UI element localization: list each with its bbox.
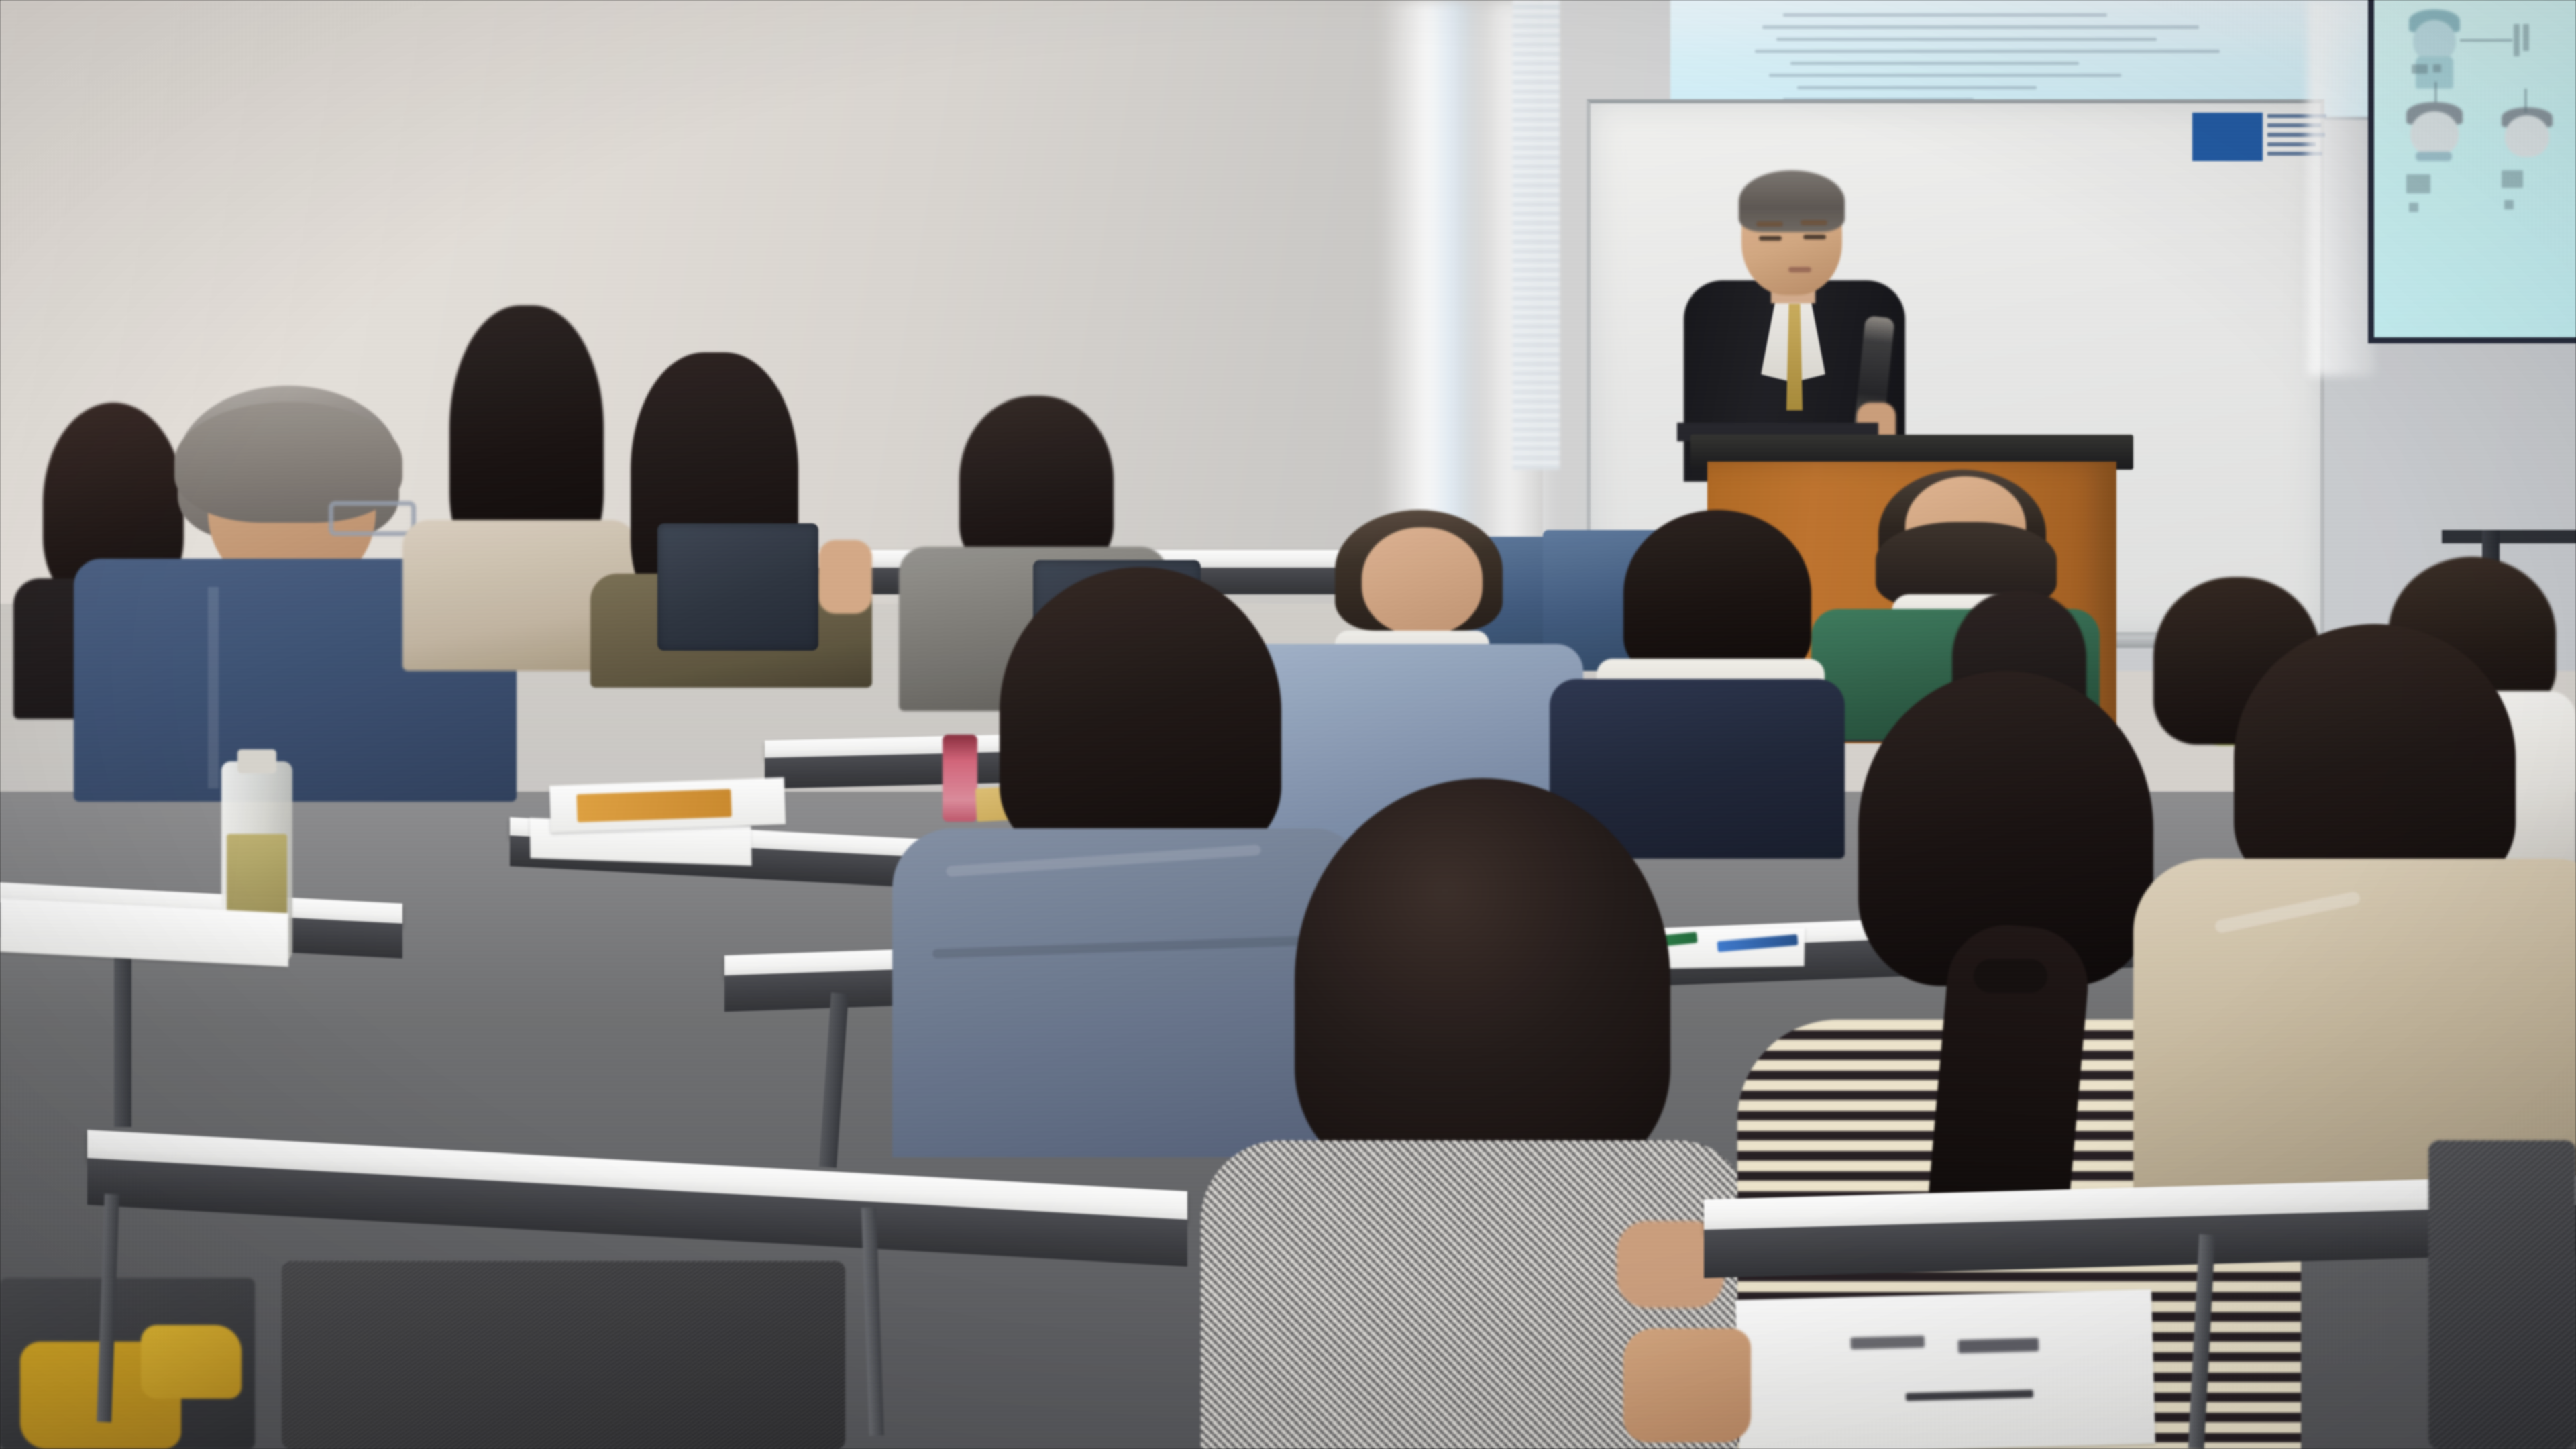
projector-beam-glare	[2308, 0, 2375, 376]
window-blind	[1513, 0, 1560, 470]
shirt-seam	[208, 587, 219, 788]
slide-avatar-bottom-right	[2502, 107, 2553, 172]
raised-hand	[818, 540, 872, 614]
hair-tie	[1974, 959, 2047, 993]
table-left-leg	[114, 939, 131, 1127]
presenter-mouth	[1788, 267, 1811, 272]
seminar-room-photo	[0, 0, 2576, 1449]
presenter-eyebrow-left	[1756, 221, 1783, 227]
chair-back-1[interactable]	[657, 523, 818, 651]
right-projection-screen	[2368, 0, 2576, 343]
mesh-chair-foreground[interactable]	[282, 1261, 845, 1449]
water-bottle-cap	[237, 749, 276, 773]
organization-logo-placard	[2192, 107, 2326, 171]
hand-with-pen-front	[1623, 1328, 1751, 1442]
orange-brochure[interactable]	[576, 789, 731, 822]
slide-avatar-top	[2409, 9, 2460, 90]
audience-person-khaki-jacket	[2133, 624, 2576, 1228]
yellow-bag-flap	[141, 1325, 241, 1399]
presenter-eye-right	[1803, 235, 1826, 239]
slide-avatar-bottom-left	[2406, 102, 2463, 169]
equipment-rail	[2442, 530, 2576, 543]
handout-document-front[interactable]	[1735, 1289, 2155, 1449]
presenter-eye-left	[1759, 236, 1782, 241]
presenter-hair	[1739, 170, 1845, 232]
mesh-chair-right[interactable]	[2428, 1140, 2576, 1449]
logo-color-block	[2192, 113, 2263, 161]
presenter-eyebrow-right	[1801, 220, 1827, 225]
